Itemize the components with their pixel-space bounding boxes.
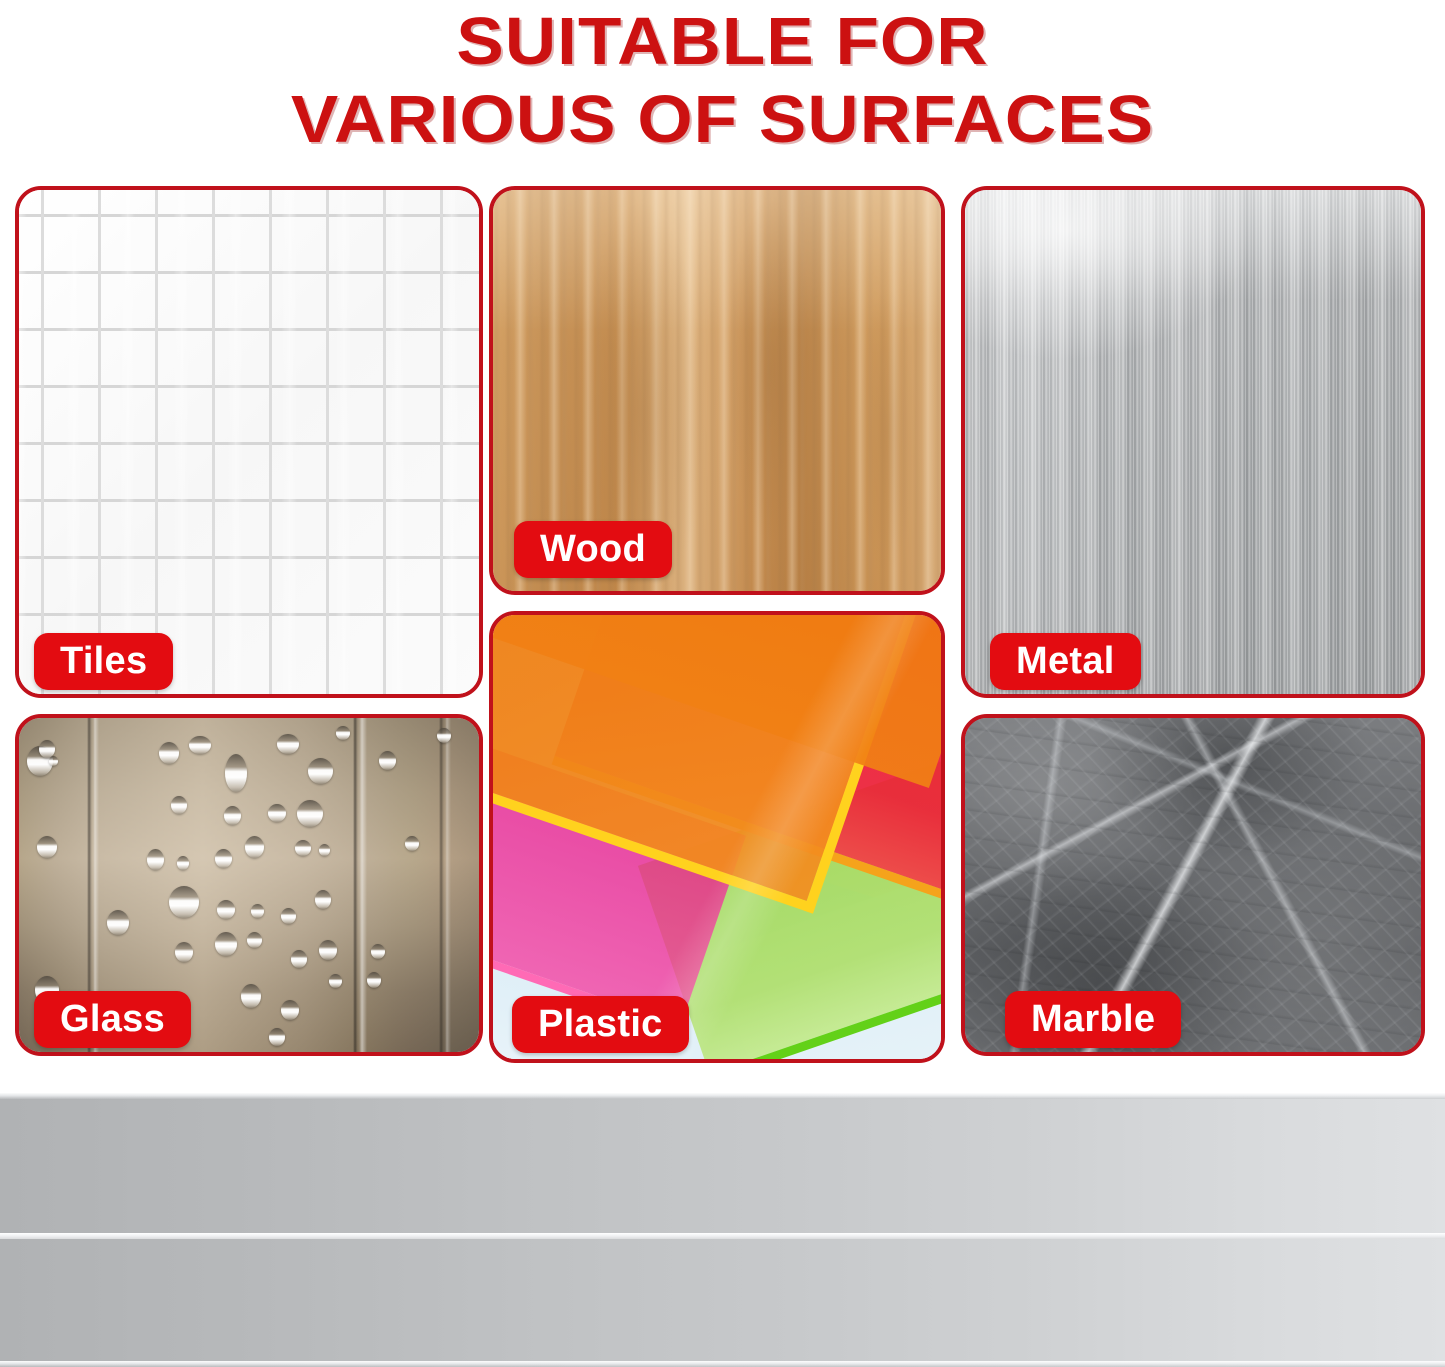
metal-texture — [965, 190, 1421, 694]
surface-panel-metal — [961, 186, 1425, 698]
plastic-texture — [493, 615, 941, 1059]
surface-label-marble: Marble — [1005, 991, 1181, 1048]
water-droplet — [147, 849, 164, 870]
water-droplet — [319, 940, 337, 960]
water-droplet — [171, 796, 187, 814]
water-droplet — [437, 728, 451, 743]
water-droplet — [281, 908, 296, 924]
water-droplet — [225, 754, 247, 792]
water-droplet — [175, 942, 193, 962]
surface-panel-grid: Tiles Wood Metal Glass Plastic Marble — [0, 0, 1445, 1093]
water-droplet — [315, 890, 331, 909]
water-droplet — [405, 836, 419, 851]
wall-panel-lower — [0, 1239, 1445, 1367]
surface-panel-tiles — [15, 186, 483, 698]
surface-label-wood: Wood — [514, 521, 672, 578]
water-droplet — [224, 806, 241, 825]
surface-label-tiles: Tiles — [34, 633, 173, 690]
water-droplet — [308, 758, 333, 784]
water-droplet — [297, 800, 323, 827]
water-droplet — [215, 849, 232, 868]
surface-label-metal: Metal — [990, 633, 1141, 690]
water-droplet — [107, 910, 129, 935]
water-droplet — [319, 844, 330, 856]
water-droplet — [189, 736, 211, 754]
water-droplet — [177, 856, 189, 870]
water-droplet — [217, 900, 235, 919]
water-droplet — [269, 1028, 285, 1046]
water-droplet — [49, 756, 58, 766]
water-droplet — [367, 972, 381, 988]
bottom-wall-strip — [0, 1093, 1445, 1367]
water-droplet — [245, 836, 264, 858]
water-droplet — [169, 886, 199, 918]
wall-seam-middle — [0, 1233, 1445, 1239]
water-droplet — [329, 974, 342, 988]
wall-seam-bottom — [0, 1361, 1445, 1367]
surface-label-plastic: Plastic — [512, 996, 689, 1053]
wall-panel-upper — [0, 1093, 1445, 1233]
water-droplet — [247, 932, 262, 948]
water-droplet — [336, 726, 350, 740]
surface-label-glass: Glass — [34, 991, 191, 1048]
water-droplet — [241, 984, 261, 1008]
water-droplet — [37, 836, 57, 858]
water-droplet — [291, 950, 307, 968]
water-droplet — [159, 742, 179, 764]
water-droplet — [371, 944, 385, 959]
water-droplet — [268, 804, 286, 822]
water-droplet — [379, 751, 396, 770]
water-droplet — [277, 734, 299, 754]
water-droplet — [295, 840, 311, 856]
wall-seam-top — [0, 1093, 1445, 1099]
water-droplet — [281, 1000, 299, 1020]
tiles-texture — [19, 190, 479, 694]
water-droplet — [215, 932, 237, 956]
water-droplet — [251, 904, 264, 918]
